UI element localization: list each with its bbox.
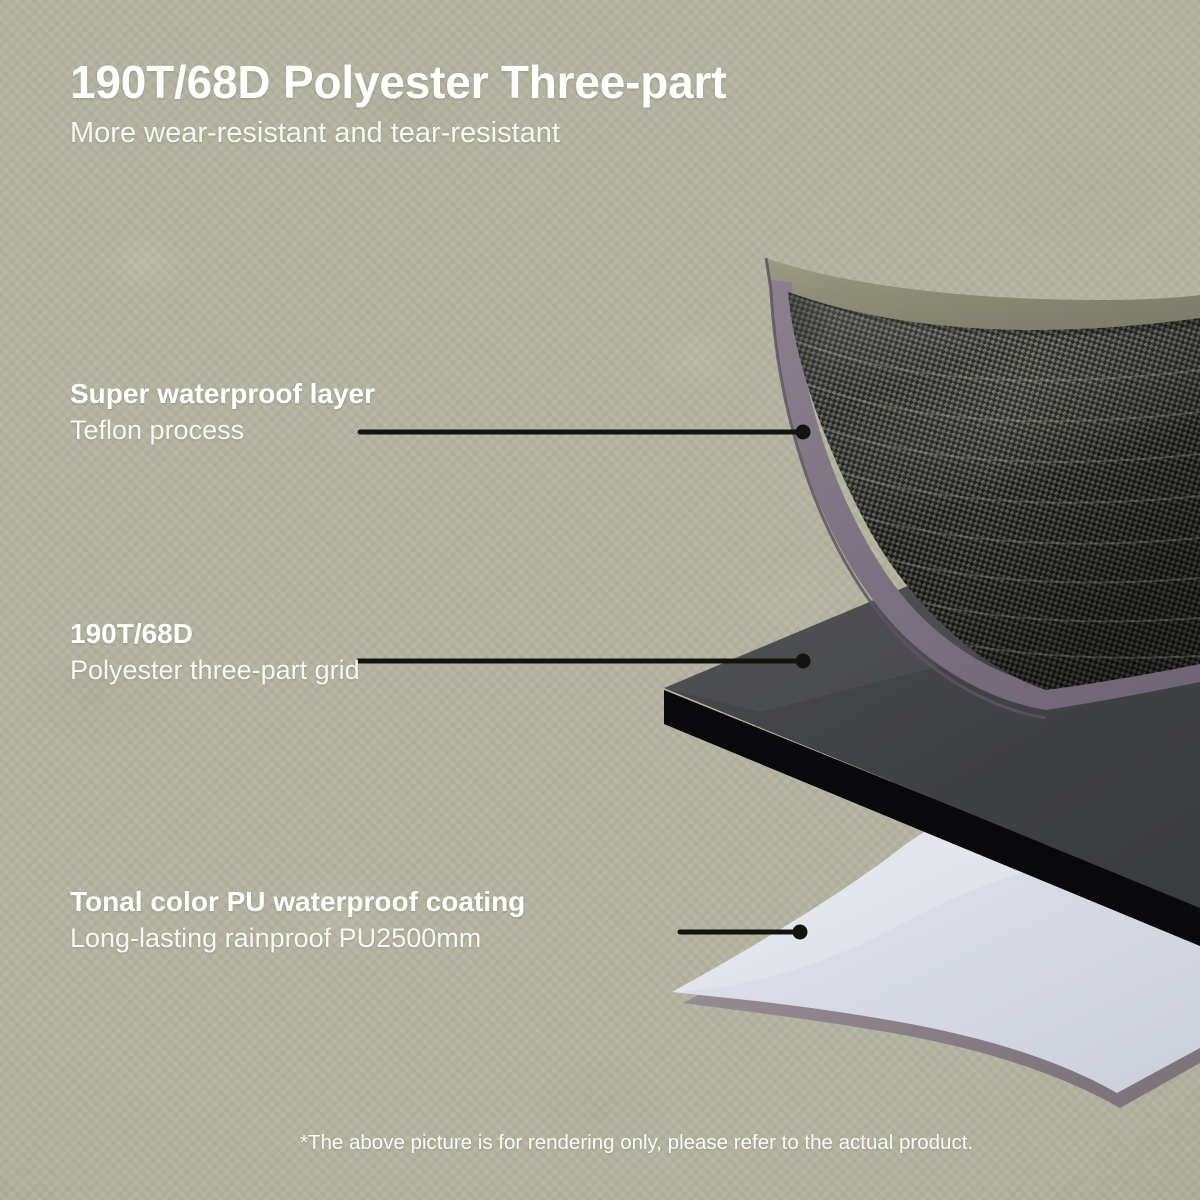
text-overlay: 190T/68D Polyester Three-part More wear-…: [0, 0, 1200, 1200]
callout-subtitle: Long-lasting rainproof PU2500mm: [70, 923, 525, 953]
callout-subtitle: Polyester three-part grid: [70, 655, 360, 685]
page-title: 190T/68D Polyester Three-part: [70, 58, 726, 108]
callout-title: Super waterproof layer: [70, 378, 375, 409]
callout-title: 190T/68D: [70, 618, 360, 649]
callout-title: Tonal color PU waterproof coating: [70, 886, 525, 917]
disclaimer-footnote: *The above picture is for rendering only…: [300, 1131, 973, 1155]
page-subtitle: More wear-resistant and tear-resistant: [70, 117, 726, 150]
callout-pu-waterproof-coating: Tonal color PU waterproof coating Long-l…: [70, 886, 525, 954]
callout-polyester-grid: 190T/68D Polyester three-part grid: [70, 618, 360, 686]
callout-subtitle: Teflon process: [70, 415, 375, 445]
callout-super-waterproof-layer: Super waterproof layer Teflon process: [70, 378, 375, 446]
product-infographic: 190T/68D Polyester Three-part More wear-…: [0, 0, 1200, 1200]
page-heading: 190T/68D Polyester Three-part More wear-…: [70, 58, 726, 150]
